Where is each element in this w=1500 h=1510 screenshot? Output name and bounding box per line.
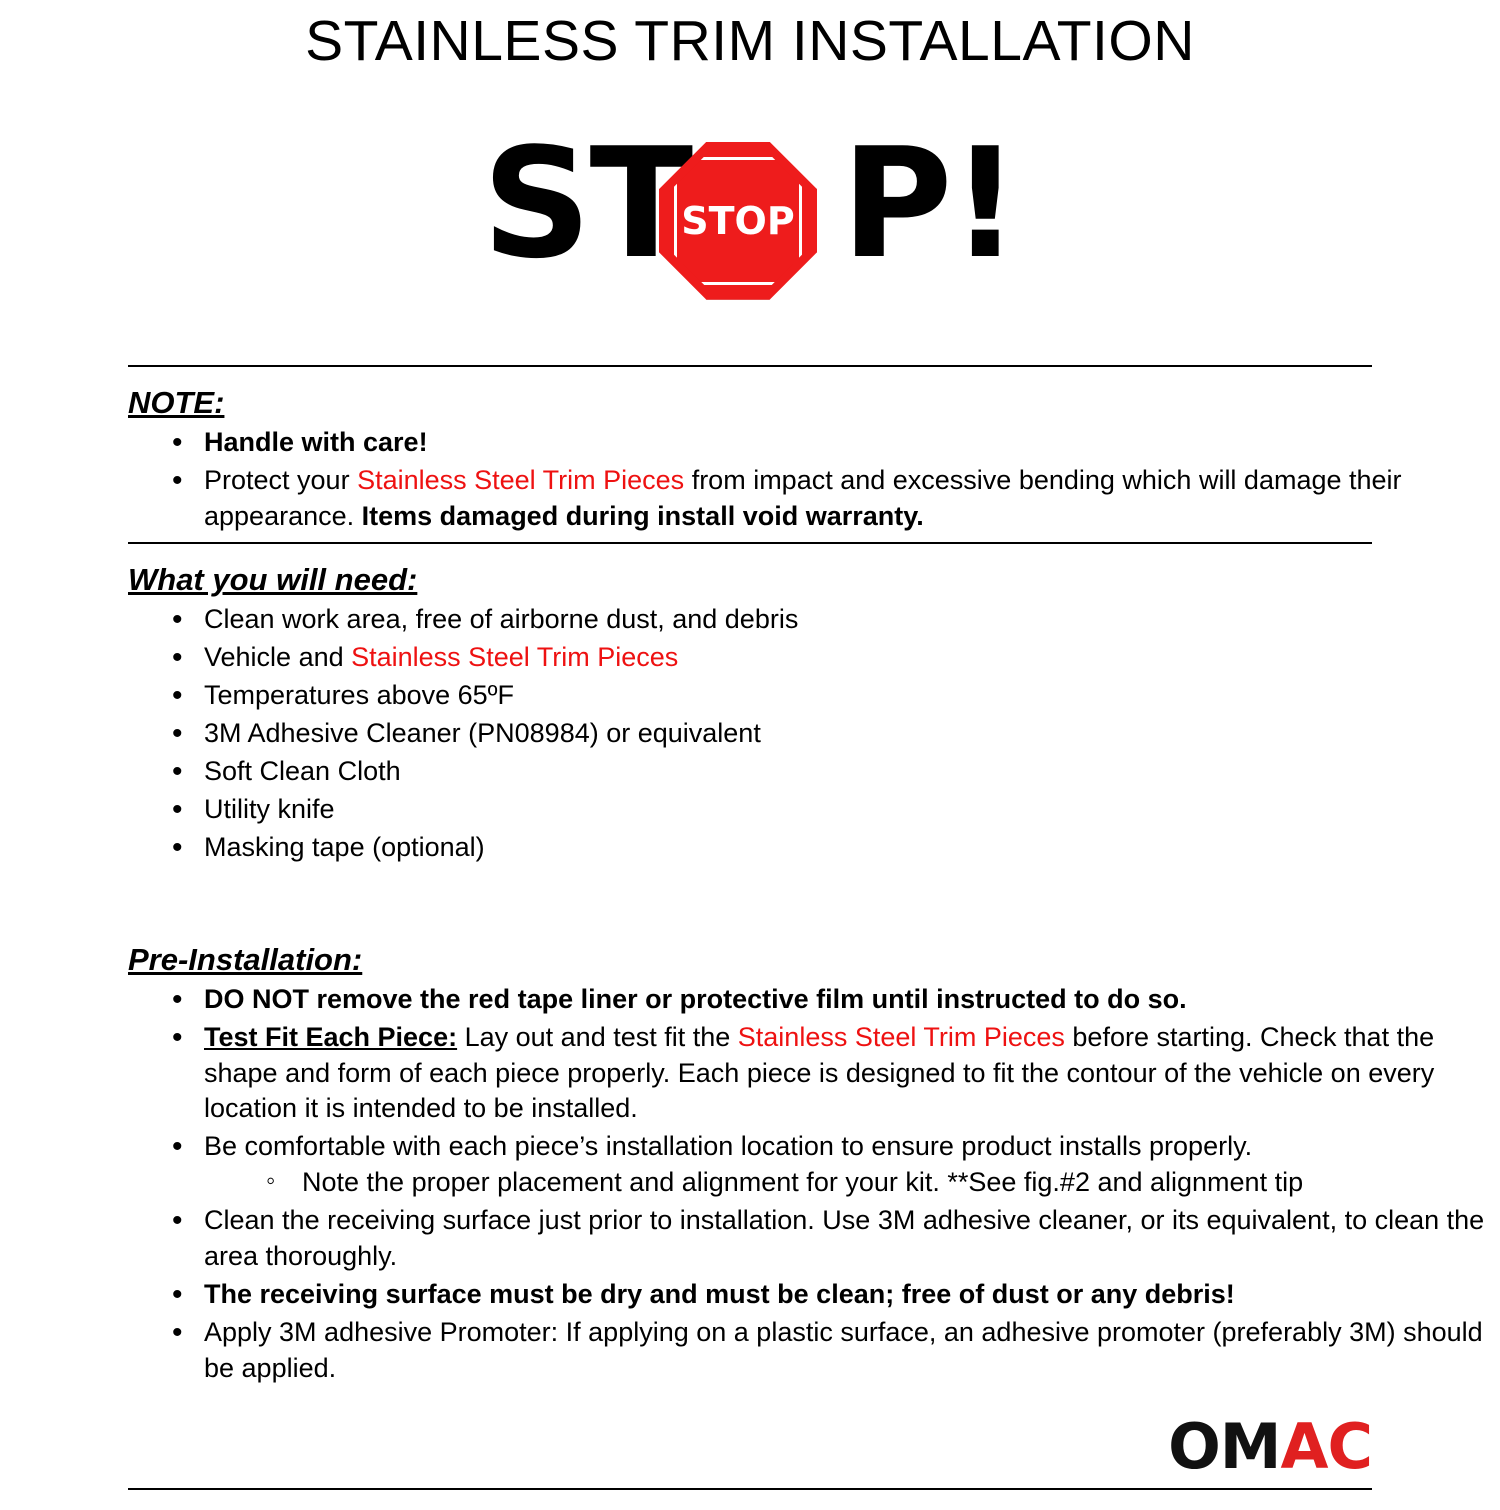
pre-item-1-label: Test Fit Each Piece:	[204, 1022, 457, 1052]
preinstall-list: DO NOT remove the red tape liner or prot…	[0, 982, 1500, 1387]
sub-list-item: Note the proper placement and alignment …	[266, 1165, 1500, 1201]
note-item-0-text: Handle with care!	[204, 427, 428, 457]
section-heading-note: NOTE:	[128, 385, 1500, 421]
list-item: Temperatures above 65ºF	[172, 678, 1500, 714]
pre-item-1-part1: Lay out and test fit the	[457, 1022, 738, 1052]
need-list: Clean work area, free of airborne dust, …	[0, 602, 1500, 865]
page-title: STAINLESS TRIM INSTALLATION	[0, 10, 1500, 73]
list-item: Utility knife	[172, 792, 1500, 828]
logo-letter-a: A	[1281, 1410, 1328, 1483]
divider-mid	[128, 542, 1372, 544]
logo-letter-c: C	[1327, 1410, 1372, 1483]
stop-sign-icon: STOP	[659, 142, 817, 300]
need-item-4: Soft Clean Cloth	[204, 756, 401, 786]
pre-item-4: The receiving surface must be dry and mu…	[204, 1279, 1235, 1309]
note-item-1-part3: Items damaged during install void warran…	[362, 501, 924, 531]
pre-item-0: DO NOT remove the red tape liner or prot…	[204, 984, 1187, 1014]
logo-letter-m: M	[1220, 1410, 1281, 1483]
list-item: Apply 3M adhesive Promoter: If applying …	[172, 1315, 1500, 1387]
list-item: Clean the receiving surface just prior t…	[172, 1203, 1500, 1275]
need-item-0: Clean work area, free of airborne dust, …	[204, 604, 798, 634]
document-page: STAINLESS TRIM INSTALLATION STP! STOP NO…	[0, 10, 1500, 1510]
note-list: Handle with care! Protect your Stainless…	[0, 425, 1500, 535]
list-item: Test Fit Each Piece: Lay out and test fi…	[172, 1020, 1500, 1128]
note-item-1-part0: Protect your	[204, 465, 357, 495]
stop-sign-label: STOP	[681, 199, 794, 243]
list-item: 3M Adhesive Cleaner (PN08984) or equival…	[172, 716, 1500, 752]
note-item-1-part1: Stainless Steel Trim Pieces	[357, 465, 684, 495]
need-item-3: 3M Adhesive Cleaner (PN08984) or equival…	[204, 718, 761, 748]
list-item: DO NOT remove the red tape liner or prot…	[172, 982, 1500, 1018]
list-item: Masking tape (optional)	[172, 830, 1500, 866]
list-item: Protect your Stainless Steel Trim Pieces…	[172, 463, 1500, 535]
need-item-1-part1: Stainless Steel Trim Pieces	[351, 642, 678, 672]
pre-item-5: Apply 3M adhesive Promoter: If applying …	[204, 1317, 1483, 1383]
omac-logo: OMAC	[1168, 1416, 1372, 1478]
pre-item-1-part2: Stainless Steel Trim Pieces	[738, 1022, 1065, 1052]
divider-bottom	[128, 1488, 1372, 1490]
section-heading-preinstall: Pre-Installation:	[128, 942, 1500, 978]
list-item: Vehicle and Stainless Steel Trim Pieces	[172, 640, 1500, 676]
logo-letter-o: O	[1168, 1410, 1220, 1483]
section-heading-need: What you will need:	[128, 562, 1500, 598]
divider-top	[128, 365, 1372, 367]
need-item-1-part0: Vehicle and	[204, 642, 351, 672]
pre-item-2: Be comfortable with each piece’s install…	[204, 1131, 1252, 1161]
need-item-2: Temperatures above 65ºF	[204, 680, 514, 710]
preinstall-sublist: Note the proper placement and alignment …	[204, 1165, 1500, 1201]
pre-item-3: Clean the receiving surface just prior t…	[204, 1205, 1484, 1271]
need-item-6: Masking tape (optional)	[204, 832, 485, 862]
stop-graphic: STP! STOP	[0, 128, 1500, 343]
list-item: The receiving surface must be dry and mu…	[172, 1277, 1500, 1313]
list-item: Clean work area, free of airborne dust, …	[172, 602, 1500, 638]
list-item: Handle with care!	[172, 425, 1500, 461]
need-item-5: Utility knife	[204, 794, 335, 824]
stop-word-right: P!	[841, 115, 1018, 292]
list-item: Soft Clean Cloth	[172, 754, 1500, 790]
list-item: Be comfortable with each piece’s install…	[172, 1129, 1500, 1201]
pre-item-2-sub-0: Note the proper placement and alignment …	[302, 1167, 1303, 1197]
